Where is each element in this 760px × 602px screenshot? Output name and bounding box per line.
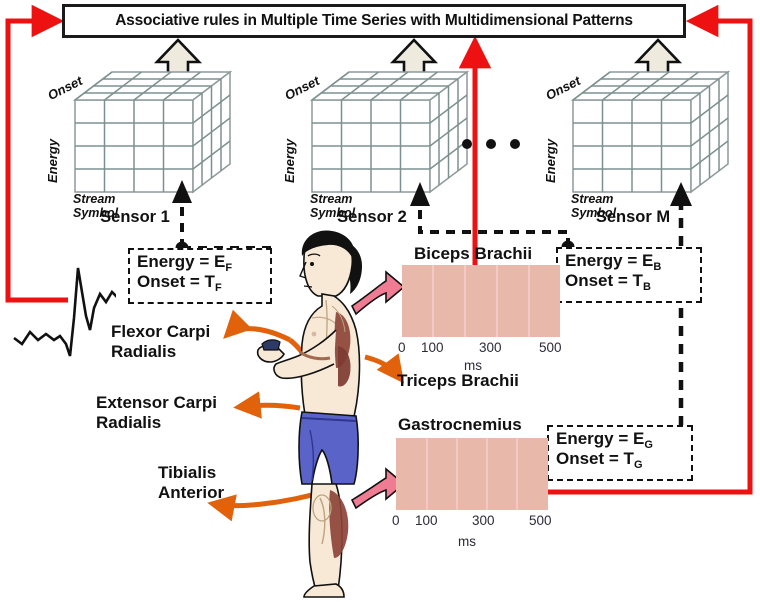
chart-biceps-plot-area [402,265,560,337]
muscle-label-flexor-line1: Flexor Carpi [111,322,210,342]
feature-box-gastro: Energy = EG Onset = TG [547,425,693,481]
cube-2-sensor-label: Sensor 2 [317,208,427,227]
orange-arrow-triceps [365,357,400,378]
chart-gastro-tick-500: 500 [529,513,552,528]
muscle-label-tibialis: Tibialis Anterior [158,463,224,502]
chart-gastro-xlabel: ms [458,534,476,549]
page-title-text: Associative rules in Multiple Time Serie… [115,12,633,30]
ellipsis-dot-1 [462,139,472,149]
chart-biceps-tick-0: 0 [398,340,406,355]
dashed-link-sensor2 [410,182,575,254]
feature-onset-G: Onset = TG [556,449,684,469]
human-figure [258,231,362,597]
chart-gastro-gridline [516,438,518,510]
orange-arrow-flexor [228,329,290,340]
cube-3-energy-label: Energy [543,139,558,183]
sensor-cube-3 [573,72,728,192]
feature-energy-F: Energy = EF [137,252,263,272]
feature-onset-F-text: Onset = T [137,272,215,291]
chart-biceps-gridline [528,265,530,337]
diagram-canvas: Associative rules in Multiple Time Serie… [0,0,760,602]
orange-arrow-extensor [240,405,300,408]
feature-energy-F-sub: F [225,262,232,274]
feature-energy-B: Energy = EB [565,251,693,271]
feature-energy-G-sub: G [644,439,653,451]
feature-onset-F: Onset = TF [137,272,263,292]
chart-gastro-tick-300: 300 [472,513,495,528]
feature-box-biceps: Energy = EB Onset = TB [556,247,702,303]
chart-biceps-tick-100: 100 [421,340,444,355]
chart-biceps-gridline [464,265,466,337]
cube-1-sensor-label: Sensor 1 [80,208,190,227]
muscle-label-extensor-line1: Extensor Carpi [96,393,217,413]
chart-gastro-gridline [426,438,428,510]
feature-onset-G-text: Onset = T [556,449,634,468]
feature-energy-G: Energy = EG [556,429,684,449]
muscle-label-extensor-line2: Radialis [96,413,217,433]
cube-2-energy-label: Energy [282,139,297,183]
ellipsis-dot-3 [510,139,520,149]
ellipsis-dot-2 [486,139,496,149]
chart-biceps-title: Biceps Brachii [414,244,532,264]
feature-energy-B-text: Energy = E [565,251,653,270]
feature-energy-B-sub: B [653,261,661,273]
chart-gastro-gridline [456,438,458,510]
feature-onset-B-sub: B [643,281,651,293]
muscle-label-flexor-line2: Radialis [111,342,210,362]
feature-energy-G-text: Energy = E [556,429,644,448]
sensor-cube-1 [75,72,230,192]
chart-biceps-tick-500: 500 [539,340,562,355]
chart-biceps-gridline [496,265,498,337]
page-title: Associative rules in Multiple Time Serie… [62,4,686,38]
cube-1-energy-label: Energy [45,139,60,183]
chart-biceps-tick-300: 300 [479,340,502,355]
feature-onset-G-sub: G [634,459,643,471]
feature-onset-B: Onset = TB [565,271,693,291]
feature-onset-B-text: Onset = T [565,271,643,290]
chart-biceps-gridline [432,265,434,337]
muscle-label-tibialis-line2: Anterior [158,483,224,503]
chart-gastro-tick-100: 100 [415,513,438,528]
sensor-cube-2 [312,72,467,192]
muscle-label-tibialis-line1: Tibialis [158,463,224,483]
chart-gastro-gridline [486,438,488,510]
muscle-label-flexor: Flexor Carpi Radialis [111,322,210,361]
feature-energy-F-text: Energy = E [137,252,225,271]
feature-box-flexor: Energy = EF Onset = TF [128,248,272,304]
muscle-label-extensor: Extensor Carpi Radialis [96,393,217,432]
feature-onset-F-sub: F [215,282,222,294]
chart-gastro-plot-area [396,438,548,510]
chart-gastro-tick-0: 0 [392,513,400,528]
chart-gastro-title: Gastrocnemius [398,415,522,435]
cube-3-sensor-label: Sensor M [578,208,688,227]
chart-triceps-title: Triceps Brachii [397,371,519,391]
